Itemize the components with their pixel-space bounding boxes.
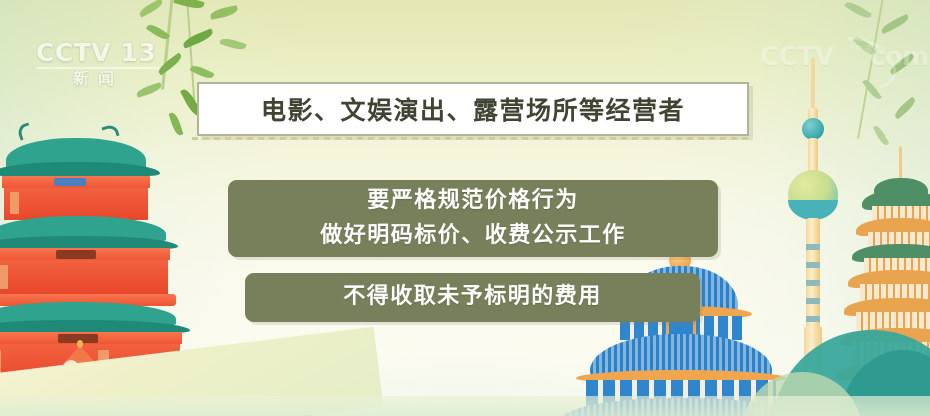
message-box-1-line-1: 要严格规范价格行为 [367, 184, 579, 218]
headline-banner: 电影、文娱演出、露营场所等经营者 [197, 82, 749, 136]
message-box-1: 要严格规范价格行为 做好明码标价、收费公示工作 [228, 180, 718, 257]
cctv-com-watermark: CCTVcom 中央电视台 [760, 42, 928, 86]
cctv13-channel-logo: CCTV 13 新闻 [36, 40, 160, 88]
ground-bottom [0, 396, 930, 416]
channel-logo-main-text: CCTV 13 [36, 40, 160, 65]
watermark-cn-text: 中央电视台 [846, 44, 891, 55]
headline-banner-text: 电影、文娱演出、露营场所等经营者 [261, 91, 685, 127]
message-box-2-line-1: 不得收取未予标明的费用 [343, 284, 602, 310]
headline-dashed-divider [192, 137, 752, 140]
broadcast-screen: CCTV 13 新闻 CCTVcom 中央电视台 电影、文娱演出、露营场所等经营… [0, 0, 930, 416]
message-box-1-line-2: 做好明码标价、收费公示工作 [320, 219, 626, 253]
channel-logo-sub-text: 新闻 [36, 70, 160, 88]
message-box-2: 不得收取未予标明的费用 [245, 273, 700, 322]
watermark-brand-text: CCTV [760, 42, 834, 72]
